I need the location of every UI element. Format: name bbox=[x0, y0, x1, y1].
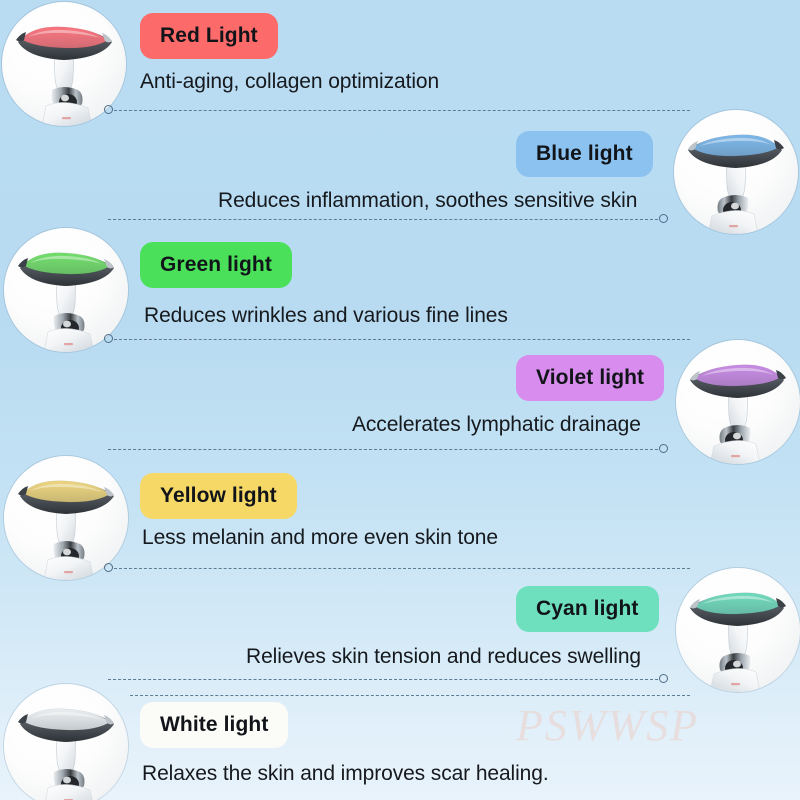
dashed-rule bbox=[114, 110, 690, 111]
dashed-rule bbox=[114, 568, 690, 569]
connector-dot bbox=[104, 563, 113, 572]
connector-dot bbox=[659, 674, 668, 683]
badge-green[interactable]: Green light bbox=[140, 242, 292, 288]
badge-red[interactable]: Red Light bbox=[140, 13, 278, 59]
neck-beauty-device-white-icon bbox=[4, 684, 128, 800]
description-cyan: Relieves skin tension and reduces swelli… bbox=[246, 645, 641, 669]
description-white: Relaxes the skin and improves scar heali… bbox=[142, 762, 549, 786]
connector-dot bbox=[104, 105, 113, 114]
neck-beauty-device-cyan-icon bbox=[676, 568, 800, 692]
neck-beauty-device-yellow-icon bbox=[4, 456, 128, 580]
dashed-rule bbox=[130, 695, 690, 696]
badge-violet[interactable]: Violet light bbox=[516, 355, 664, 401]
badge-white[interactable]: White light bbox=[140, 702, 288, 748]
connector-line-green bbox=[104, 334, 690, 345]
badge-cyan[interactable]: Cyan light bbox=[516, 586, 659, 632]
description-violet: Accelerates lymphatic drainage bbox=[352, 413, 641, 437]
connector-dot bbox=[104, 334, 113, 343]
dashed-rule bbox=[108, 219, 658, 220]
description-green: Reduces wrinkles and various fine lines bbox=[144, 304, 508, 328]
connector-line-blue bbox=[108, 214, 668, 225]
dashed-rule bbox=[108, 679, 658, 680]
connector-line-cyan bbox=[108, 674, 668, 685]
dashed-rule bbox=[108, 449, 658, 450]
description-blue: Reduces inflammation, soothes sensitive … bbox=[218, 189, 637, 213]
neck-beauty-device-violet-icon bbox=[676, 340, 800, 464]
badge-blue[interactable]: Blue light bbox=[516, 131, 653, 177]
connector-line-yellow bbox=[104, 563, 690, 574]
connector-dot bbox=[659, 214, 668, 223]
watermark-text: PSWWSP bbox=[516, 700, 699, 751]
badge-yellow[interactable]: Yellow light bbox=[140, 473, 297, 519]
description-yellow: Less melanin and more even skin tone bbox=[142, 526, 498, 550]
connector-line-red bbox=[104, 105, 690, 116]
dashed-rule bbox=[114, 339, 690, 340]
connector-dot bbox=[659, 444, 668, 453]
connector-line-white bbox=[130, 690, 690, 701]
neck-beauty-device-blue-icon bbox=[674, 110, 798, 234]
infographic-poster: PSWWSP bbox=[0, 0, 800, 800]
connector-line-violet bbox=[108, 444, 668, 455]
description-red: Anti-aging, collagen optimization bbox=[140, 70, 439, 94]
